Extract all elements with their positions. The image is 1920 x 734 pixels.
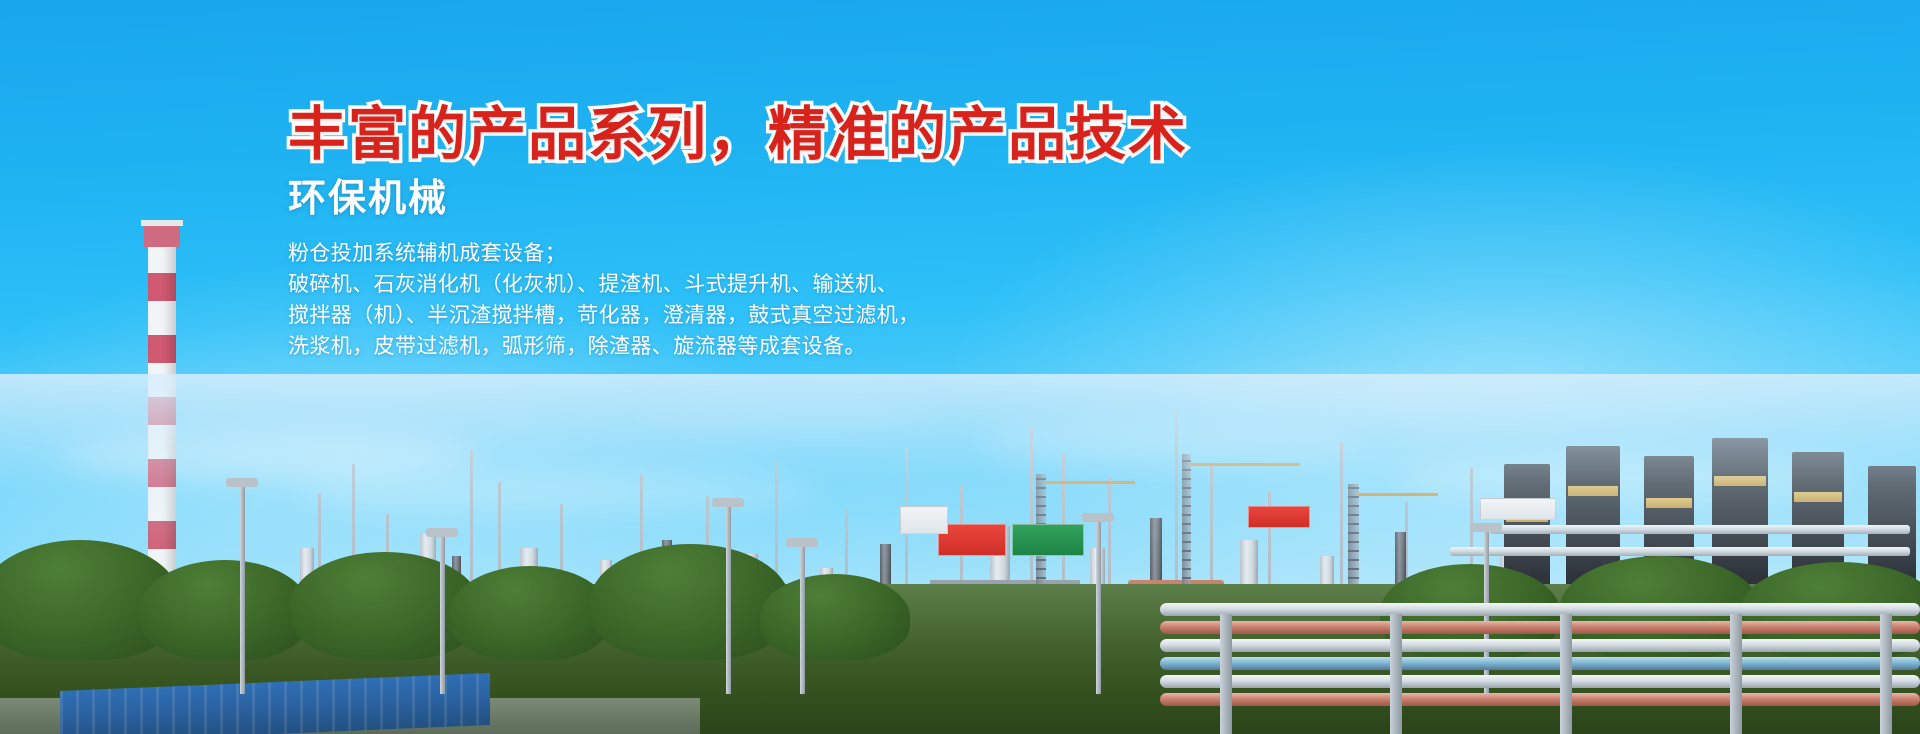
site-banner-red <box>938 524 1006 556</box>
pipe-rack <box>1160 544 1920 734</box>
banner-description: 粉仓投加系统辅机成套设备； 破碎机、石灰消化机（化灰机）、提渣机、斗式提升机、输… <box>288 239 1368 362</box>
banner-copy: 丰富的产品系列，精准的产品技术 环保机械 粉仓投加系统辅机成套设备； 破碎机、石… <box>288 104 1368 363</box>
light-pole <box>1096 519 1101 694</box>
description-line-3: 搅拌器（机）、半沉渣搅拌槽，苛化器，澄清器，鼓式真空过滤机， <box>288 301 1368 332</box>
bush <box>590 544 790 660</box>
bush <box>450 566 610 660</box>
description-line-2: 破碎机、石灰消化机（化灰机）、提渣机、斗式提升机、输送机、 <box>288 270 1368 301</box>
site-banner-red <box>1248 506 1310 528</box>
light-pole <box>800 544 805 694</box>
description-line-1: 粉仓投加系统辅机成套设备； <box>288 239 1368 270</box>
hero-banner: 丰富的产品系列，精准的产品技术 环保机械 粉仓投加系统辅机成套设备； 破碎机、石… <box>0 0 1920 734</box>
chimney-cap <box>144 225 180 247</box>
light-pole <box>440 534 445 694</box>
bush <box>760 574 910 660</box>
light-pole <box>726 504 731 694</box>
striped-chimney <box>148 239 176 584</box>
bush <box>140 560 310 660</box>
page-title: 丰富的产品系列，精准的产品技术 <box>288 104 1368 165</box>
description-line-4: 洗浆机，皮带过滤机，弧形筛，除渣器、旋流器等成套设备。 <box>288 332 1368 363</box>
site-sign-white <box>1480 498 1556 520</box>
site-banner-green <box>1012 524 1084 556</box>
banner-subtitle: 环保机械 <box>288 179 1368 221</box>
site-sign-white <box>900 506 948 534</box>
light-pole <box>240 484 245 694</box>
